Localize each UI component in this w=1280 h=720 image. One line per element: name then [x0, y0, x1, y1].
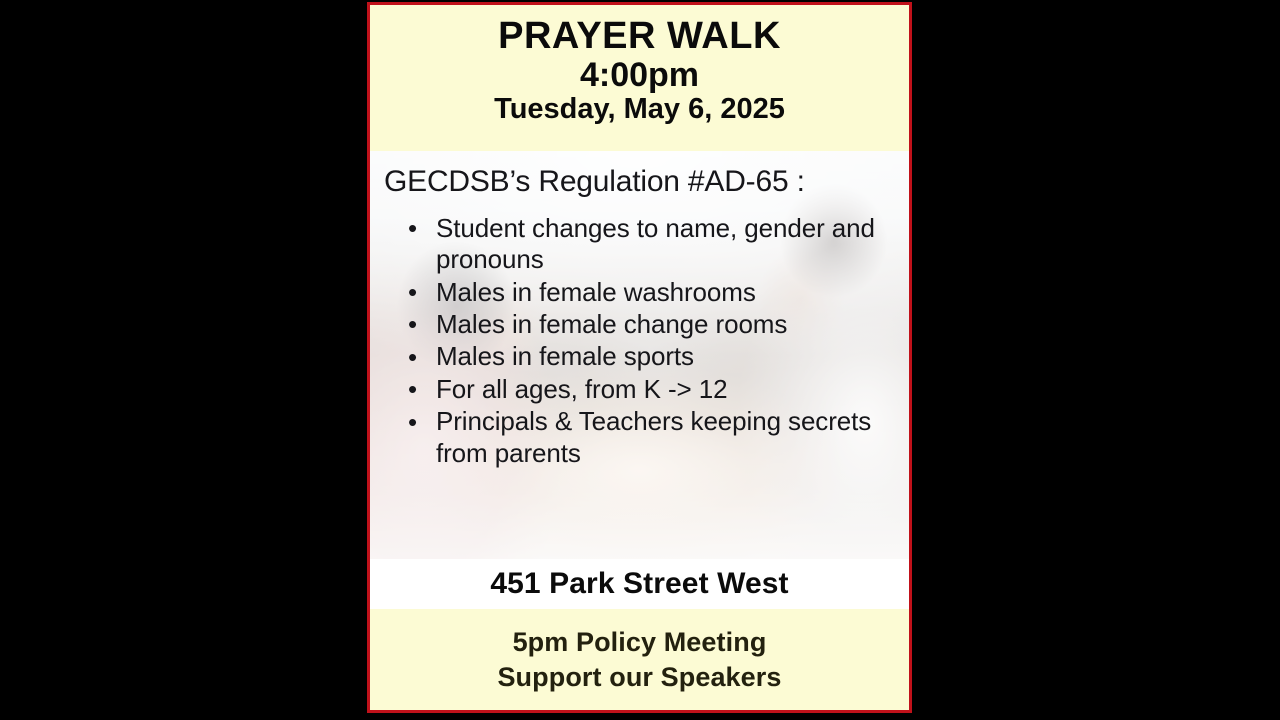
bullet-icon: •: [408, 374, 417, 405]
poster-body-section: GECDSB’s Regulation #AD-65 : • Student c…: [370, 151, 909, 559]
list-item-label: Males in female change rooms: [436, 309, 787, 339]
regulation-bullet-list: • Student changes to name, gender and pr…: [384, 213, 901, 470]
list-item: • Principals & Teachers keeping secrets …: [436, 406, 901, 469]
poster-body-content: GECDSB’s Regulation #AD-65 : • Student c…: [370, 151, 909, 469]
bullet-icon: •: [408, 213, 417, 244]
poster-date: Tuesday, May 6, 2025: [494, 94, 785, 126]
footer-line-2: Support our Speakers: [497, 660, 781, 695]
list-item-label: Principals & Teachers keeping secrets fr…: [436, 406, 871, 467]
screen-canvas: PRAYER WALK 4:00pm Tuesday, May 6, 2025 …: [0, 0, 1280, 720]
bullet-icon: •: [408, 342, 417, 373]
list-item: • Males in female sports: [436, 341, 901, 372]
address-band: 451 Park Street West: [370, 559, 909, 609]
list-item-label: Student changes to name, gender and pron…: [436, 213, 875, 274]
bullet-icon: •: [408, 407, 417, 438]
poster-header: PRAYER WALK 4:00pm Tuesday, May 6, 2025: [370, 5, 909, 151]
address-text: 451 Park Street West: [490, 567, 788, 601]
bullet-icon: •: [408, 309, 417, 340]
poster-time: 4:00pm: [580, 57, 699, 94]
list-item: • For all ages, from K -> 12: [436, 374, 901, 405]
regulation-heading: GECDSB’s Regulation #AD-65 :: [384, 165, 901, 199]
footer-line-1: 5pm Policy Meeting: [513, 625, 767, 660]
poster-footer: 5pm Policy Meeting Support our Speakers: [370, 609, 909, 710]
event-poster: PRAYER WALK 4:00pm Tuesday, May 6, 2025 …: [367, 2, 912, 713]
bullet-icon: •: [408, 277, 417, 308]
list-item-label: Males in female washrooms: [436, 277, 756, 307]
list-item: • Student changes to name, gender and pr…: [436, 213, 901, 276]
list-item: • Males in female change rooms: [436, 309, 901, 340]
list-item-label: Males in female sports: [436, 341, 694, 371]
list-item-label: For all ages, from K -> 12: [436, 374, 727, 404]
list-item: • Males in female washrooms: [436, 277, 901, 308]
poster-title: PRAYER WALK: [498, 17, 781, 57]
